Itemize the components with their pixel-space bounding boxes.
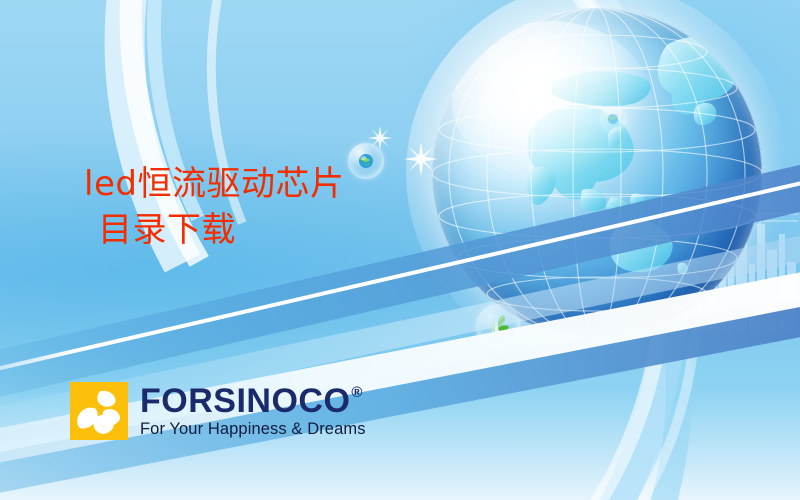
headline-line-2: 目录下载 [84, 208, 344, 254]
sparkle-star-icon [404, 142, 438, 176]
brand-logo[interactable]: FORSINOCO® For Your Happiness & Dreams [70, 382, 366, 440]
logo-text-block: FORSINOCO® For Your Happiness & Dreams [140, 384, 366, 438]
bubble-globe-icon [600, 106, 626, 132]
registered-mark-icon: ® [351, 385, 363, 400]
bubble-globe-icon [348, 143, 384, 179]
logo-wordmark-text: FORSINOCO [140, 384, 350, 418]
four-petal-pinwheel-icon [70, 382, 128, 440]
headline-line-1: led恒流驱动芯片 [84, 162, 344, 208]
bubble-globe-core [357, 152, 375, 170]
promo-banner: led恒流驱动芯片 目录下载 FORSINOCO® For Your Happi… [0, 0, 800, 500]
headline: led恒流驱动芯片 目录下载 [84, 162, 344, 253]
bubble-globe-core [607, 113, 620, 126]
logo-tagline: For Your Happiness & Dreams [140, 421, 366, 438]
logo-wordmark: FORSINOCO® [140, 384, 366, 418]
